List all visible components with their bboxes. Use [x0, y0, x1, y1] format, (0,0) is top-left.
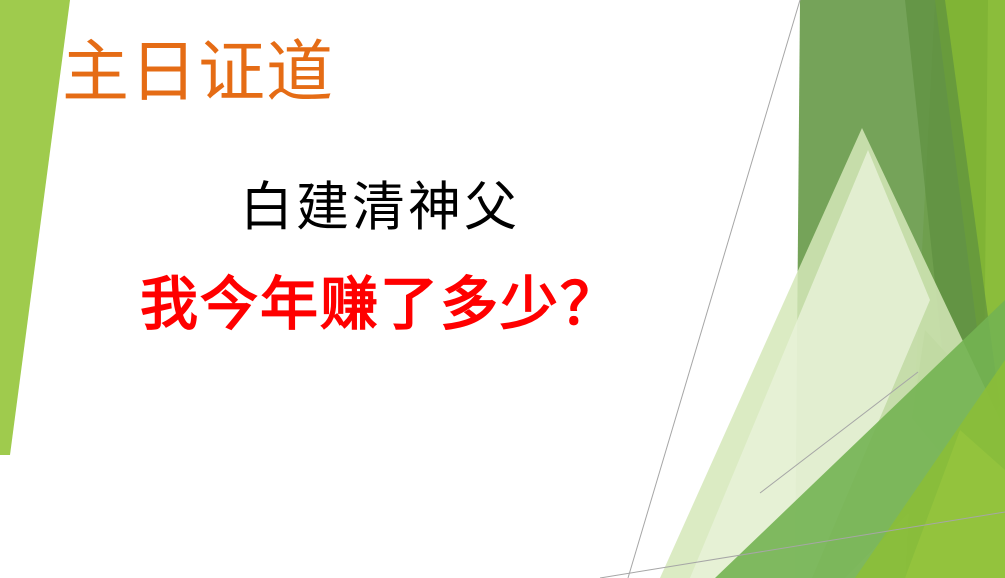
slide-canvas: 主日证道 白建清神父 我今年赚了多少？	[0, 0, 1005, 578]
speaker-name-line: 白建清神父	[0, 176, 760, 241]
page-title: 主日证道	[62, 36, 334, 111]
body-text-block: 白建清神父 我今年赚了多少？	[0, 176, 760, 339]
question-line: 我今年赚了多少？	[0, 270, 760, 340]
text-layer: 主日证道 白建清神父 我今年赚了多少？	[0, 0, 1005, 578]
